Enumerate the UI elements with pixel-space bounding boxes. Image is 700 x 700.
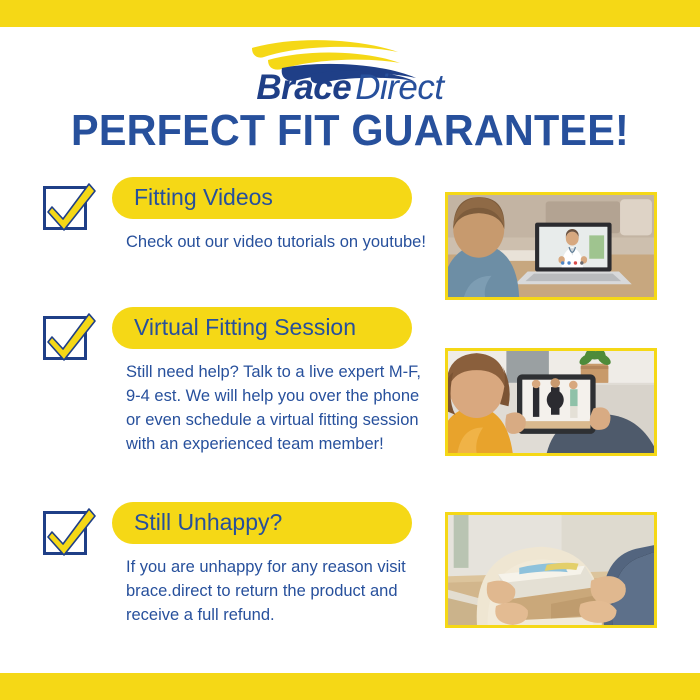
logo-word-direct: Direct — [355, 68, 443, 107]
banner-label: Virtual Fitting Session — [134, 314, 356, 341]
top-yellow-band — [0, 0, 700, 27]
banner-virtual-fitting-session: Virtual Fitting Session — [112, 307, 412, 349]
logo-word-brace: Brace — [256, 68, 351, 107]
logo-wordmark: BraceDirect — [256, 68, 443, 108]
checkbox-checked-icon — [41, 503, 97, 559]
page-title: PERFECT FIT GUARANTEE! — [21, 106, 679, 156]
body-text-fitting-videos: Check out our video tutorials on youtube… — [126, 230, 426, 254]
photo-fitting-videos — [445, 192, 657, 300]
photo-still-unhappy — [445, 512, 657, 628]
banner-fitting-videos: Fitting Videos — [112, 177, 412, 219]
banner-still-unhappy: Still Unhappy? — [112, 502, 412, 544]
checkbox-checked-icon — [41, 308, 97, 364]
photo-package-handoff — [448, 515, 654, 625]
body-text-still-unhappy: If you are unhappy for any reason visit … — [126, 555, 426, 627]
checkbox-checked-icon — [41, 178, 97, 234]
brand-logo: BraceDirect — [0, 38, 700, 108]
photo-laptop-video-call — [448, 195, 654, 297]
body-text-virtual-fitting-session: Still need help? Talk to a live expert M… — [126, 360, 426, 456]
banner-label: Fitting Videos — [134, 184, 273, 211]
photo-tablet-fitting-session — [448, 351, 654, 453]
infographic-canvas: BraceDirect PERFECT FIT GUARANTEE! Fitti… — [0, 0, 700, 700]
banner-label: Still Unhappy? — [134, 509, 282, 536]
bottom-yellow-band — [0, 673, 700, 700]
photo-virtual-fitting-session — [445, 348, 657, 456]
